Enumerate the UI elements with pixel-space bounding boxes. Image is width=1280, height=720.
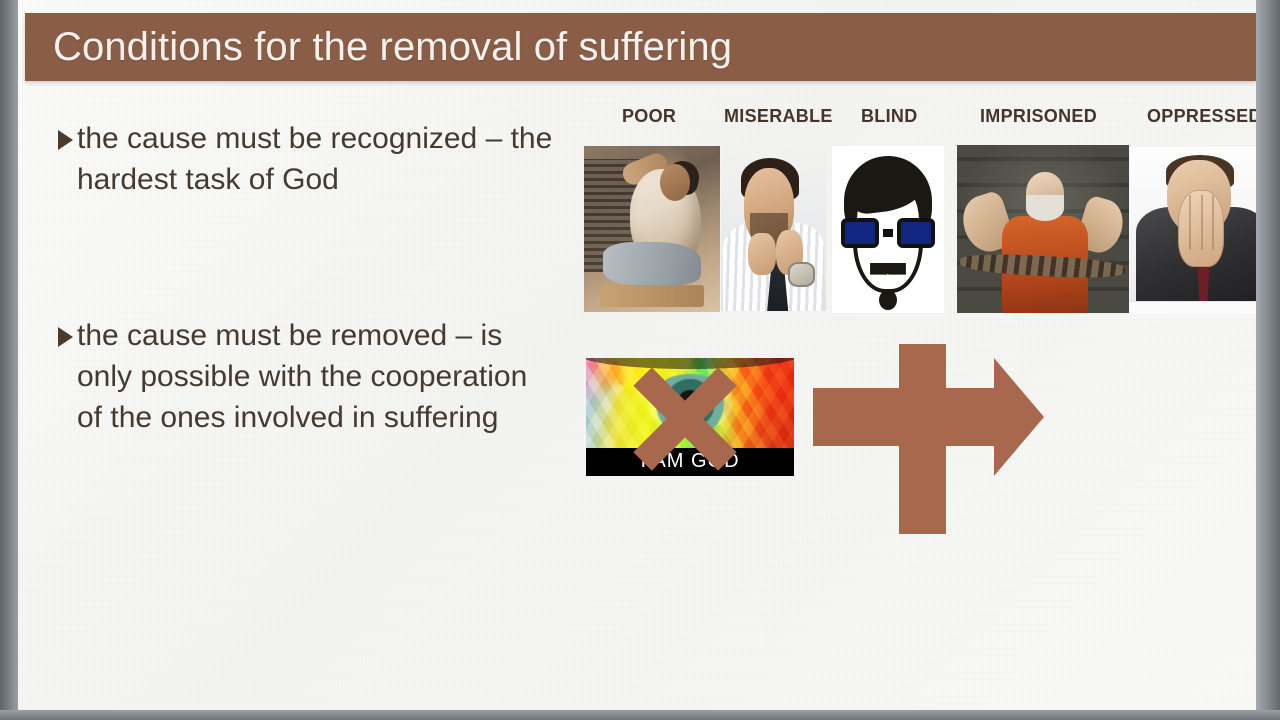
caption-band: I AM GOD xyxy=(586,448,794,476)
cross-arrow-shape xyxy=(813,344,1045,534)
frame-edge-left xyxy=(0,0,18,720)
photo-imprisoned xyxy=(957,145,1129,313)
caption-text: I AM GOD xyxy=(640,450,739,473)
photo-poor xyxy=(584,146,720,312)
cross-arrow-path xyxy=(813,344,1044,534)
label-oppressed: OPPRESSED xyxy=(1147,106,1256,127)
label-miserable: MISERABLE xyxy=(724,106,833,127)
bullet-item-1-text: the cause must be recognized – the harde… xyxy=(77,118,558,200)
bullet-list: the cause must be recognized – the harde… xyxy=(58,118,558,500)
slide-frame: Conditions for the removal of suffering … xyxy=(0,0,1280,720)
photo-strip-labels: POOR MISERABLE BLIND IMPRISONED OPPRESSE… xyxy=(584,106,1256,132)
triangle-bullet-icon xyxy=(58,327,73,347)
photo-oppressed xyxy=(1130,147,1256,314)
eye-artwork xyxy=(586,358,794,448)
photo-blind xyxy=(832,146,944,313)
i-am-god-image: I AM GOD xyxy=(586,358,794,476)
frame-edge-bottom xyxy=(0,710,1280,720)
bullet-item-2-text: the cause must be removed – is only poss… xyxy=(77,315,558,438)
frame-edge-right xyxy=(1256,0,1280,720)
photo-miserable xyxy=(721,148,826,311)
eye-iris xyxy=(648,374,731,433)
triangle-bullet-icon xyxy=(58,130,73,150)
bullet-item-2: the cause must be removed – is only poss… xyxy=(58,315,558,438)
page-title: Conditions for the removal of suffering xyxy=(53,25,732,70)
bullet-item-1: the cause must be recognized – the harde… xyxy=(58,118,558,200)
slide-canvas: Conditions for the removal of suffering … xyxy=(18,0,1256,710)
cross-arrow-svg xyxy=(813,344,1045,534)
label-imprisoned: IMPRISONED xyxy=(980,106,1097,127)
slide-title-bar: Conditions for the removal of suffering xyxy=(25,13,1256,81)
label-poor: POOR xyxy=(622,106,676,127)
label-blind: BLIND xyxy=(861,106,918,127)
